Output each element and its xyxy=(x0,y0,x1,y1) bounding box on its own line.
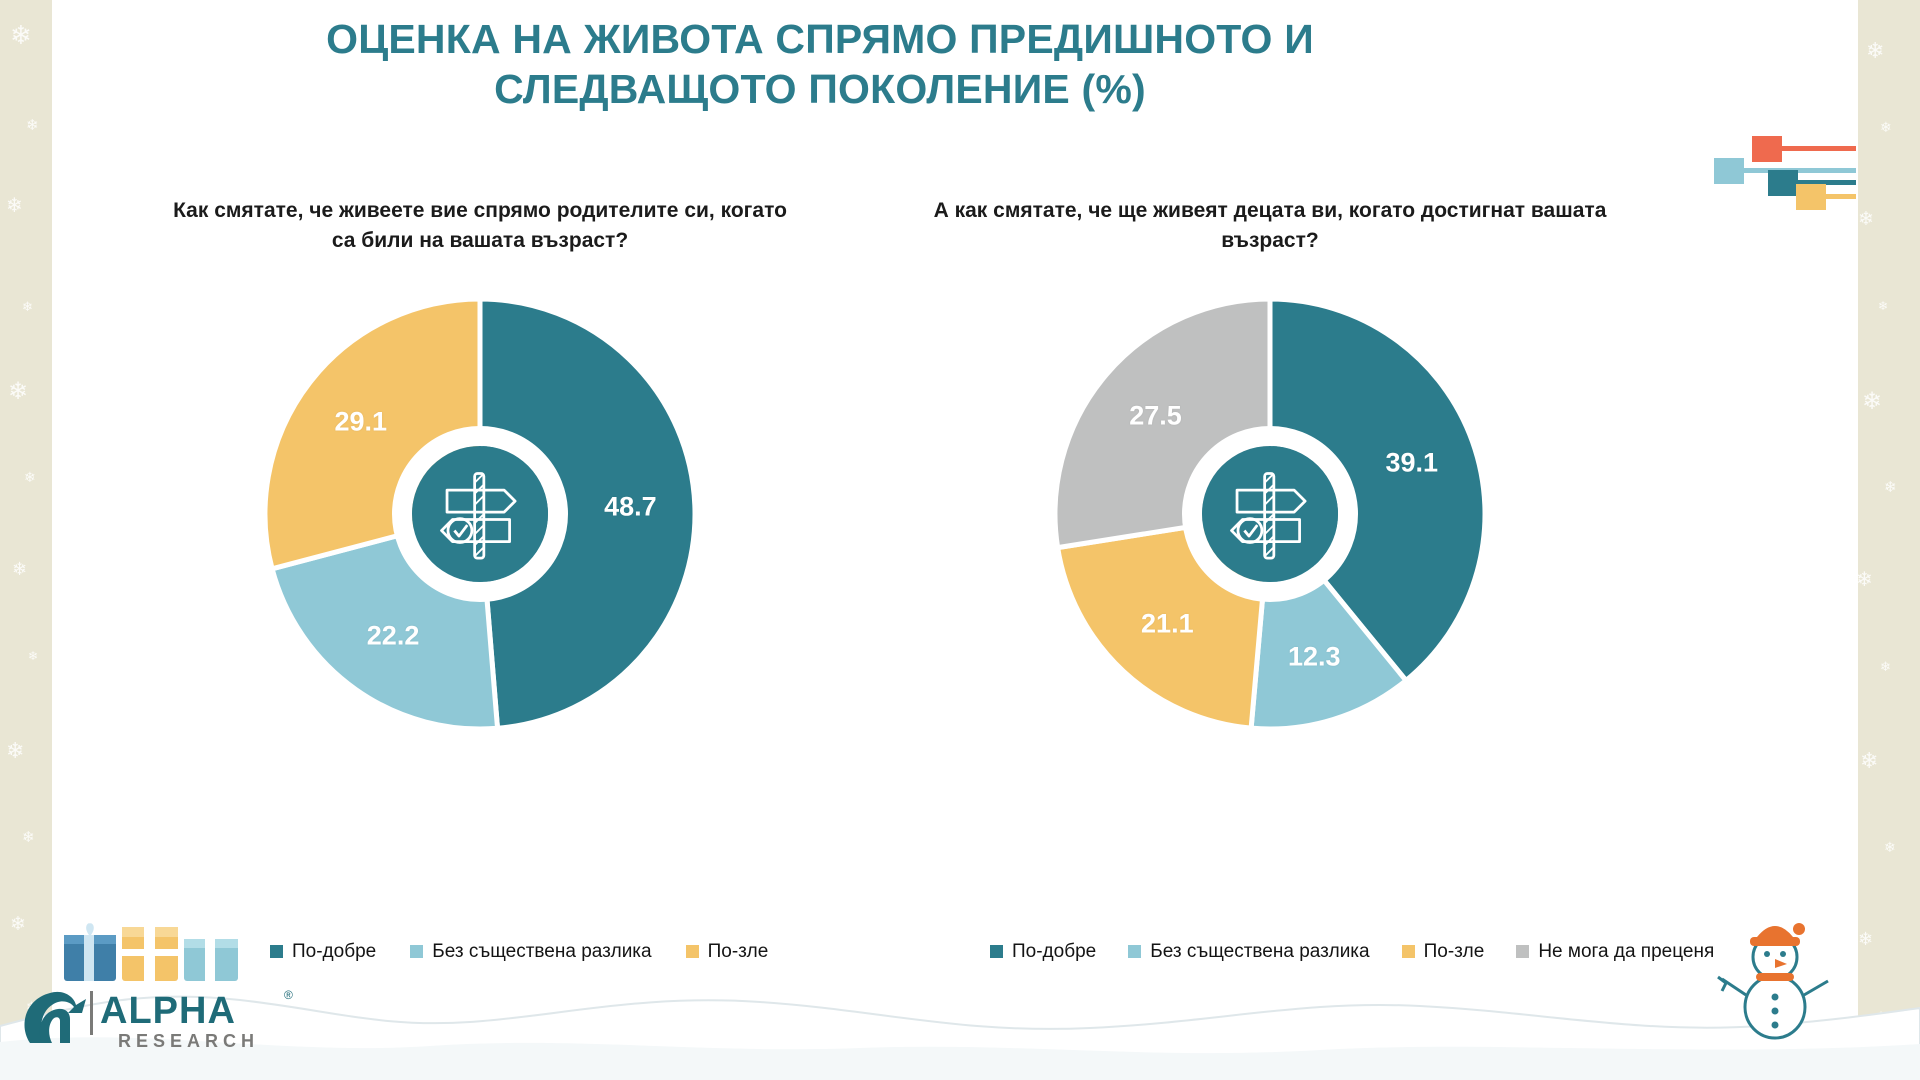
stacked-bars-icon xyxy=(1696,134,1856,210)
legend-label: Без съществена разлика xyxy=(432,942,651,961)
svg-text:ALPHA: ALPHA xyxy=(100,990,236,1032)
legend-label: По-добре xyxy=(1012,942,1096,961)
snowflake-icon: ❄ xyxy=(1856,570,1873,590)
snowflake-icon: ❄ xyxy=(1866,40,1884,62)
right-decor-band xyxy=(1858,0,1920,1080)
snowflake-icon: ❄ xyxy=(22,830,35,845)
donut-center-disc xyxy=(412,446,548,582)
legend-swatch-icon xyxy=(1402,945,1415,958)
svg-text:RESEARCH: RESEARCH xyxy=(118,1031,259,1051)
legend-item[interactable]: По-добре xyxy=(270,942,376,961)
snowflake-icon: ❄ xyxy=(12,560,27,578)
legend-label: По-добре xyxy=(292,942,376,961)
pie-right-value-0: 39.1 xyxy=(1385,448,1438,479)
left-decor-band xyxy=(0,0,52,1080)
snowflake-icon: ❄ xyxy=(1878,300,1888,312)
snowflake-icon: ❄ xyxy=(1858,210,1874,229)
pie-chart-left: 48.7 22.2 29.1 xyxy=(260,294,700,734)
chart-panel-right: А как смятате, че ще живеят децата ви, к… xyxy=(880,196,1660,734)
pie-chart-right: 39.1 12.3 21.1 27.5 xyxy=(1050,294,1490,734)
chart-left-title: Как смятате, че живеете вие спрямо родит… xyxy=(120,196,840,256)
legend-right: По-добреБез съществена разликаПо-злеНе м… xyxy=(990,942,1714,961)
snowflake-icon: ❄ xyxy=(28,650,38,662)
snowflake-icon: ❄ xyxy=(6,196,23,216)
legend-swatch-icon xyxy=(1516,945,1529,958)
slide-canvas: ❄❄❄❄❄❄❄❄❄❄❄❄❄❄❄❄❄❄❄❄❄❄❄❄ ОЦЕНКА НА ЖИВОТ… xyxy=(0,0,1920,1080)
legend-left: По-добреБез съществена разликаПо-зле xyxy=(270,942,768,961)
legend-swatch-icon xyxy=(990,945,1003,958)
legend-item[interactable]: По-зле xyxy=(1402,942,1485,961)
svg-text:®: ® xyxy=(284,988,293,1002)
pie-left-value-1: 22.2 xyxy=(367,621,420,652)
chart-panel-left: Как смятате, че живеете вие спрямо родит… xyxy=(120,196,840,734)
legend-label: Не мога да преценя xyxy=(1538,942,1714,961)
snowflake-icon: ❄ xyxy=(8,380,28,404)
legend-swatch-icon xyxy=(410,945,423,958)
legend-label: Без съществена разлика xyxy=(1150,942,1369,961)
snowflake-icon: ❄ xyxy=(1884,840,1896,854)
snowflake-icon: ❄ xyxy=(1862,390,1882,414)
legend-swatch-icon xyxy=(270,945,283,958)
pie-right-svg xyxy=(1050,294,1490,734)
chart-right-title: А как смятате, че ще живеят децата ви, к… xyxy=(880,196,1660,256)
pie-right-value-1: 12.3 xyxy=(1288,642,1341,673)
snowman-icon xyxy=(1716,899,1834,1054)
snowflake-icon: ❄ xyxy=(1880,660,1891,673)
snowflake-icon: ❄ xyxy=(1860,750,1878,772)
snowflake-icon: ❄ xyxy=(10,22,32,48)
snowflake-icon: ❄ xyxy=(6,740,24,762)
legend-item[interactable]: По-добре xyxy=(990,942,1096,961)
pie-left-value-0: 48.7 xyxy=(604,492,657,523)
snowflake-icon: ❄ xyxy=(26,118,39,133)
pie-left-value-2: 29.1 xyxy=(335,406,388,437)
slide-title: ОЦЕНКА НА ЖИВОТА СПРЯМО ПРЕДИШНОТО И СЛЕ… xyxy=(230,14,1410,114)
pie-right-value-3: 27.5 xyxy=(1129,400,1182,431)
legend-label: По-зле xyxy=(1424,942,1485,961)
pie-right-value-2: 21.1 xyxy=(1141,608,1194,639)
snowflake-icon: ❄ xyxy=(1880,120,1892,134)
legend-item[interactable]: Без съществена разлика xyxy=(1128,942,1369,961)
alpha-research-logo: ALPHA ® RESEARCH xyxy=(16,979,316,1062)
legend-item[interactable]: По-зле xyxy=(686,942,769,961)
legend-swatch-icon xyxy=(686,945,699,958)
donut-center-disc xyxy=(1202,446,1338,582)
snowflake-icon: ❄ xyxy=(22,300,33,313)
legend-swatch-icon xyxy=(1128,945,1141,958)
snowflake-icon: ❄ xyxy=(1884,480,1897,495)
legend-item[interactable]: Без съществена разлика xyxy=(410,942,651,961)
snowflake-icon: ❄ xyxy=(24,470,36,484)
legend-item[interactable]: Не мога да преценя xyxy=(1516,942,1714,961)
legend-label: По-зле xyxy=(708,942,769,961)
